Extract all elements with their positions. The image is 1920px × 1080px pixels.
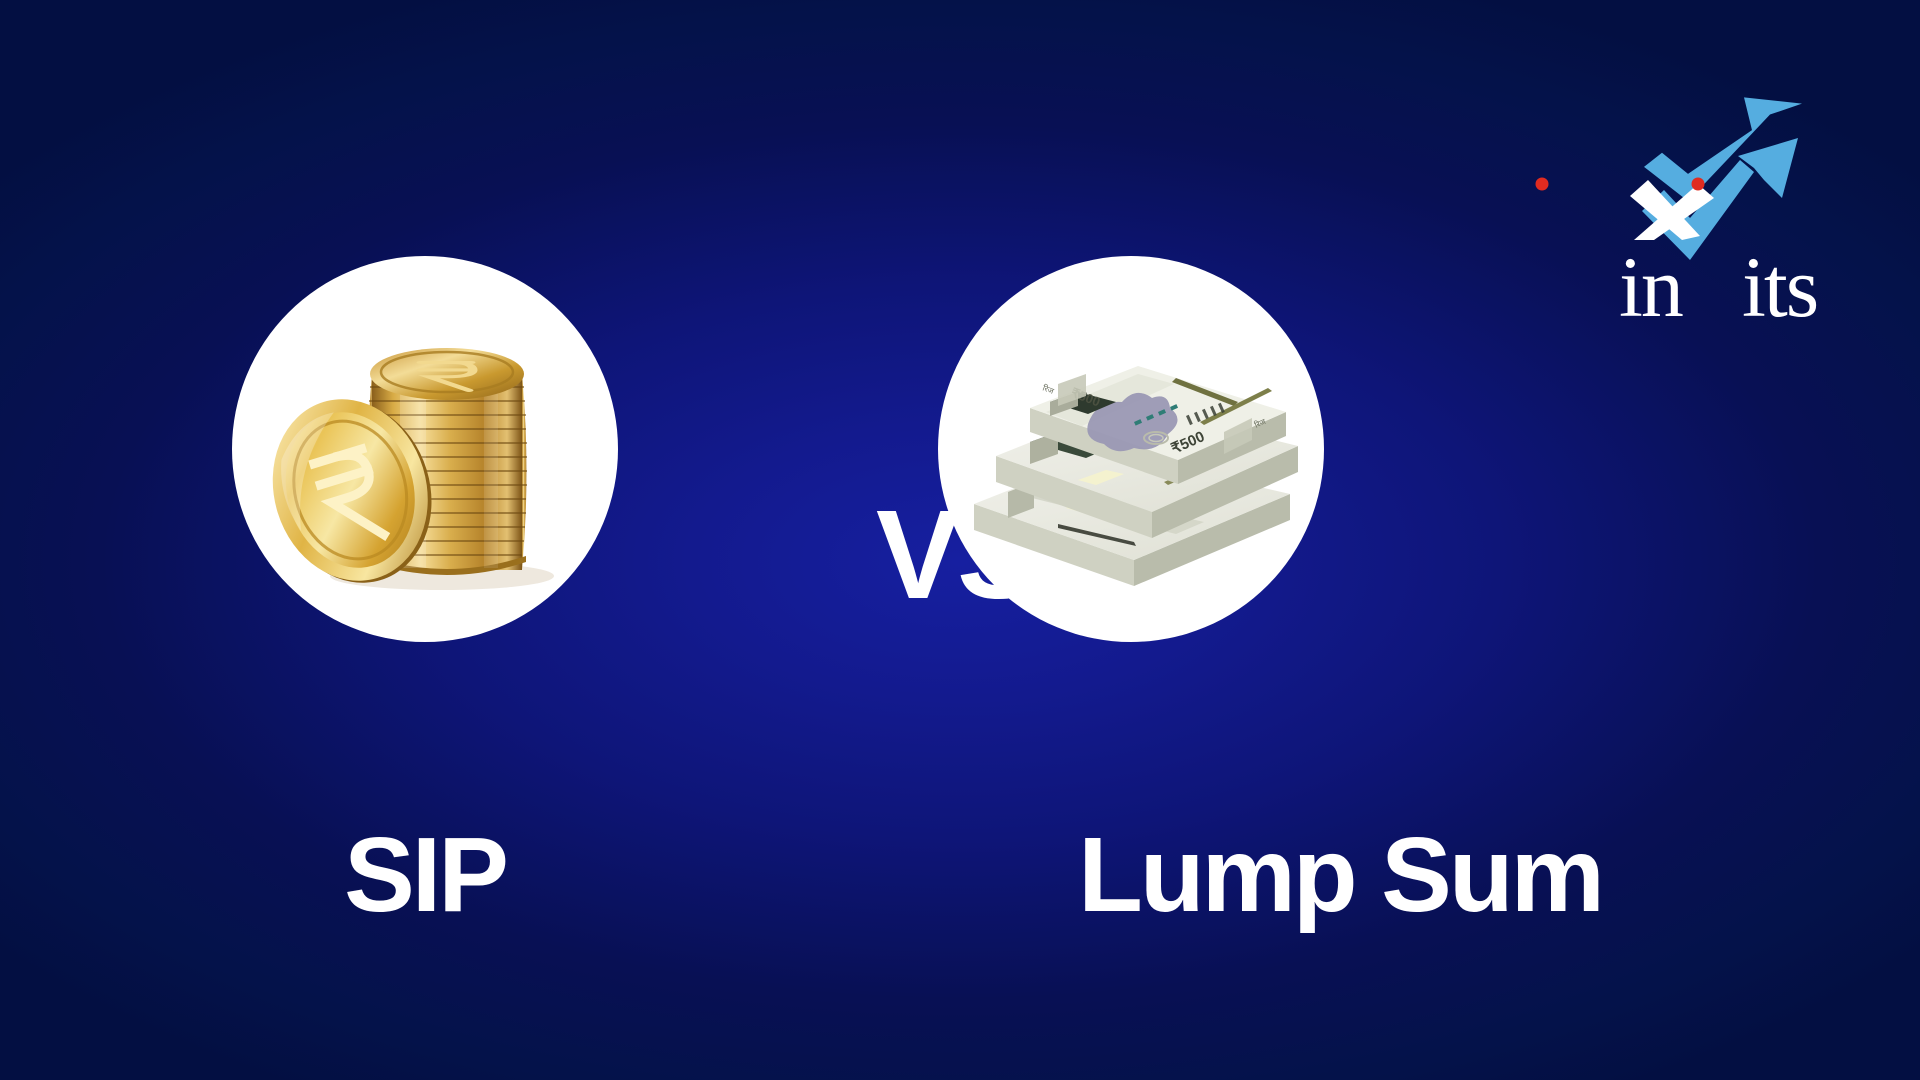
gold-coin-stack-icon — [232, 256, 618, 642]
svg-text:रिज: रिज — [1041, 383, 1056, 397]
lumpsum-label: Lump Sum — [880, 822, 1800, 928]
svg-text:रिज: रिज — [1253, 416, 1268, 430]
sip-badge-circle — [232, 256, 618, 642]
svg-text:₹500: ₹500 — [1069, 385, 1102, 410]
brand-logo-text: inXits — [1502, 152, 1822, 242]
brand-logo-text-its: its — [1742, 239, 1817, 335]
poster-canvas: inXits — [0, 0, 1920, 1080]
brand-logo[interactable]: inXits — [1502, 110, 1822, 240]
lumpsum-badge-circle: ₹500 ₹500 रिज रिज — [938, 256, 1324, 642]
brand-logo-text-in: in — [1619, 239, 1682, 335]
svg-text:₹500: ₹500 — [1169, 428, 1208, 458]
sip-label: SIP — [160, 822, 690, 928]
banknote-bundle-icon: ₹500 ₹500 रिज रिज — [938, 256, 1324, 642]
